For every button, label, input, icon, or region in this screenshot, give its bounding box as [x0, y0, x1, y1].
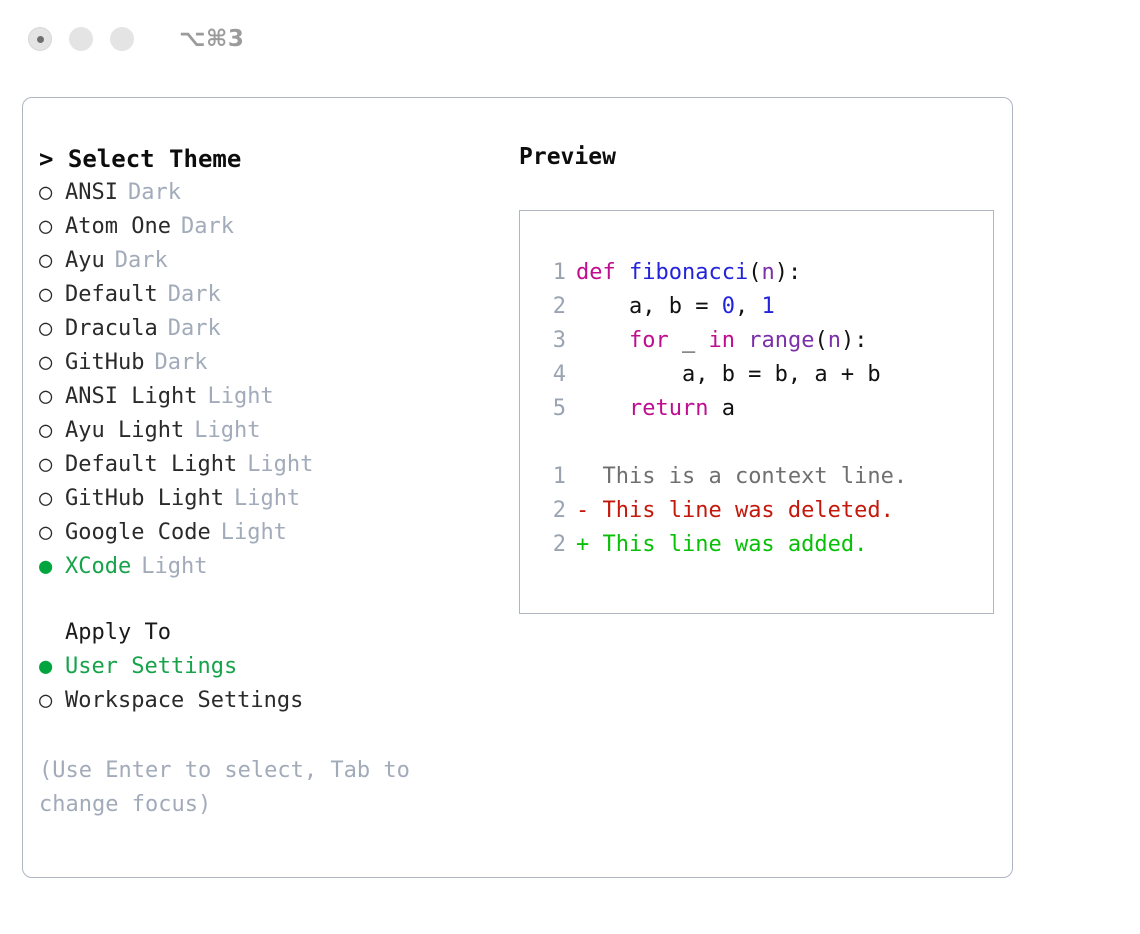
- code-token-var: n: [761, 260, 774, 285]
- code-token-plain: [735, 328, 748, 353]
- preview-title: Preview: [519, 142, 1012, 172]
- code-line: 5 return a: [538, 392, 993, 426]
- code-token-fn: fibonacci: [629, 260, 748, 285]
- theme-option-google-code[interactable]: ○Google CodeLight: [39, 516, 499, 550]
- theme-option-label: ANSI: [65, 176, 118, 210]
- theme-option-kind-badge: Dark: [154, 346, 207, 380]
- theme-option-atom-one[interactable]: ○Atom OneDark: [39, 210, 499, 244]
- code-token-plain: [616, 260, 629, 285]
- theme-option-ayu-light[interactable]: ○Ayu LightLight: [39, 414, 499, 448]
- code-token-plain: (: [748, 260, 761, 285]
- theme-option-label: Google Code: [65, 516, 211, 550]
- radio-unselected-icon: ○: [39, 380, 65, 414]
- diff-sign-ctx: [576, 460, 589, 494]
- code-line-content: return a: [576, 392, 735, 426]
- theme-option-default[interactable]: ○DefaultDark: [39, 278, 499, 312]
- traffic-light-maximize-icon[interactable]: [110, 27, 134, 51]
- radio-unselected-icon: ○: [39, 312, 65, 346]
- code-line-number: 4: [538, 358, 566, 392]
- radio-unselected-icon: ○: [39, 210, 65, 244]
- code-line: 4 a, b = b, a + b: [538, 358, 993, 392]
- code-token-plain: _: [669, 328, 709, 353]
- theme-option-label: Dracula: [65, 312, 158, 346]
- preview-spacer: [538, 426, 993, 460]
- diff-line-number: 2: [538, 528, 566, 562]
- apply-to-title: Apply To: [39, 616, 499, 650]
- code-preview-block: 1def fibonacci(n):2 a, b = 0, 13 for _ i…: [538, 256, 993, 426]
- theme-option-kind-badge: Dark: [168, 278, 221, 312]
- code-token-plain: [576, 396, 629, 421]
- code-line: 3 for _ in range(n):: [538, 324, 993, 358]
- theme-option-list: ○ANSIDark○Atom OneDark○AyuDark○DefaultDa…: [39, 176, 499, 584]
- keyboard-shortcut-label: ⌥⌘3: [179, 26, 244, 52]
- diff-line-content: This line was deleted.: [589, 494, 894, 528]
- code-line-number: 1: [538, 256, 566, 290]
- code-token-plain: [576, 328, 629, 353]
- main-panel: > Select Theme ○ANSIDark○Atom OneDark○Ay…: [22, 97, 1013, 878]
- code-line-number: 2: [538, 290, 566, 324]
- preview-column: Preview 1def fibonacci(n):2 a, b = 0, 13…: [519, 142, 1012, 822]
- code-token-kw: in: [708, 328, 735, 353]
- radio-unselected-icon: ○: [39, 516, 65, 550]
- theme-option-github[interactable]: ○GitHubDark: [39, 346, 499, 380]
- radio-unselected-icon: ○: [39, 176, 65, 210]
- theme-option-ansi-light[interactable]: ○ANSI LightLight: [39, 380, 499, 414]
- diff-line-number: 1: [538, 460, 566, 494]
- apply-to-option-workspace-settings[interactable]: ○Workspace Settings: [39, 684, 499, 718]
- theme-option-ansi[interactable]: ○ANSIDark: [39, 176, 499, 210]
- theme-selector-column: > Select Theme ○ANSIDark○Atom OneDark○Ay…: [39, 142, 499, 822]
- code-line-content: a, b = b, a + b: [576, 358, 881, 392]
- radio-selected-icon: ●: [39, 650, 65, 684]
- apply-to-option-label: User Settings: [65, 650, 237, 684]
- theme-option-xcode[interactable]: ●XCodeLight: [39, 550, 499, 584]
- radio-unselected-icon: ○: [39, 448, 65, 482]
- code-token-plain: a, b =: [576, 294, 722, 319]
- theme-option-kind-badge: Dark: [181, 210, 234, 244]
- code-token-plain: ):: [775, 260, 802, 285]
- code-line-content: a, b = 0, 1: [576, 290, 775, 324]
- theme-option-label: ANSI Light: [65, 380, 197, 414]
- code-token-kw: return: [629, 396, 708, 421]
- title-bar: ⌥⌘3: [0, 0, 1140, 78]
- apply-to-section: Apply To ●User Settings○Workspace Settin…: [39, 616, 499, 718]
- code-token-var: n: [828, 328, 841, 353]
- preview-box: 1def fibonacci(n):2 a, b = 0, 13 for _ i…: [519, 210, 994, 614]
- theme-option-label: XCode: [65, 550, 131, 584]
- panel-columns: > Select Theme ○ANSIDark○Atom OneDark○Ay…: [23, 98, 1012, 822]
- code-token-plain: ,: [735, 294, 762, 319]
- traffic-light-minimize-icon[interactable]: [69, 27, 93, 51]
- theme-option-label: Atom One: [65, 210, 171, 244]
- apply-to-option-label: Workspace Settings: [65, 684, 303, 718]
- theme-option-kind-badge: Light: [221, 516, 287, 550]
- radio-unselected-icon: ○: [39, 278, 65, 312]
- theme-option-label: Ayu Light: [65, 414, 184, 448]
- theme-option-default-light[interactable]: ○Default LightLight: [39, 448, 499, 482]
- diff-sign-del: -: [576, 494, 589, 528]
- code-token-plain: a: [708, 396, 735, 421]
- diff-line: 2+ This line was added.: [538, 528, 993, 562]
- theme-option-kind-badge: Light: [207, 380, 273, 414]
- radio-selected-icon: ●: [39, 550, 65, 584]
- diff-line-content: This line was added.: [589, 528, 867, 562]
- radio-unselected-icon: ○: [39, 684, 65, 718]
- traffic-light-active-dot: [37, 36, 44, 43]
- code-token-plain: a, b = b, a + b: [576, 362, 881, 387]
- theme-option-kind-badge: Light: [141, 550, 207, 584]
- code-line-number: 3: [538, 324, 566, 358]
- traffic-light-close-icon[interactable]: [28, 27, 52, 51]
- theme-option-kind-badge: Light: [194, 414, 260, 448]
- theme-option-label: Default Light: [65, 448, 237, 482]
- keyboard-hint-text: (Use Enter to select, Tab to change focu…: [39, 754, 449, 822]
- diff-preview-block: 1 This is a context line.2- This line wa…: [538, 460, 993, 562]
- radio-unselected-icon: ○: [39, 244, 65, 278]
- code-line-content: def fibonacci(n):: [576, 256, 801, 290]
- diff-line-number: 2: [538, 494, 566, 528]
- diff-sign-add: +: [576, 528, 589, 562]
- code-token-num: 0: [722, 294, 735, 319]
- theme-option-kind-badge: Light: [234, 482, 300, 516]
- radio-unselected-icon: ○: [39, 346, 65, 380]
- theme-option-ayu[interactable]: ○AyuDark: [39, 244, 499, 278]
- theme-option-kind-badge: Light: [247, 448, 313, 482]
- select-theme-header: > Select Theme: [39, 142, 499, 176]
- theme-option-label: Default: [65, 278, 158, 312]
- apply-to-option-list: ●User Settings○Workspace Settings: [39, 650, 499, 718]
- code-line-content: for _ in range(n):: [576, 324, 867, 358]
- code-token-kw: for: [629, 328, 669, 353]
- diff-line-content: This is a context line.: [589, 460, 907, 494]
- code-token-plain: (: [814, 328, 827, 353]
- theme-option-kind-badge: Dark: [128, 176, 181, 210]
- code-token-num: 1: [761, 294, 774, 319]
- diff-line: 1 This is a context line.: [538, 460, 993, 494]
- theme-option-label: GitHub Light: [65, 482, 224, 516]
- code-line: 2 a, b = 0, 1: [538, 290, 993, 324]
- code-token-kw: def: [576, 260, 616, 285]
- radio-unselected-icon: ○: [39, 482, 65, 516]
- code-line-number: 5: [538, 392, 566, 426]
- theme-option-label: GitHub: [65, 346, 144, 380]
- theme-option-dracula[interactable]: ○DraculaDark: [39, 312, 499, 346]
- theme-option-kind-badge: Dark: [168, 312, 221, 346]
- code-token-var: range: [748, 328, 814, 353]
- theme-option-kind-badge: Dark: [115, 244, 168, 278]
- radio-unselected-icon: ○: [39, 414, 65, 448]
- app-window: ⌥⌘3 > Select Theme ○ANSIDark○Atom OneDar…: [0, 0, 1140, 934]
- code-line: 1def fibonacci(n):: [538, 256, 993, 290]
- code-token-plain: ):: [841, 328, 868, 353]
- apply-to-option-user-settings[interactable]: ●User Settings: [39, 650, 499, 684]
- traffic-light-group: [28, 27, 134, 51]
- diff-line: 2- This line was deleted.: [538, 494, 993, 528]
- theme-option-github-light[interactable]: ○GitHub LightLight: [39, 482, 499, 516]
- theme-option-label: Ayu: [65, 244, 105, 278]
